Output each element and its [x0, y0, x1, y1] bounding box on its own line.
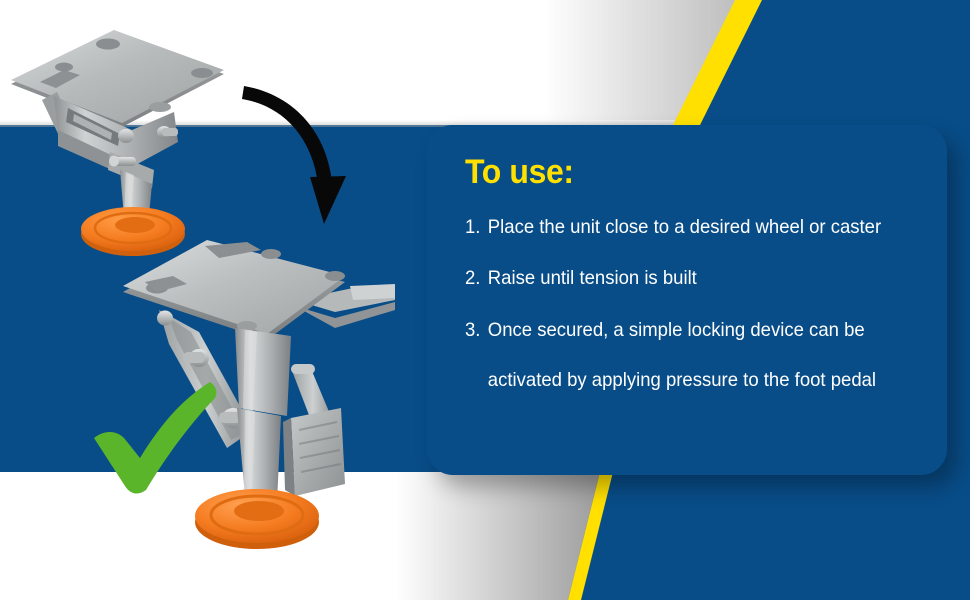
plate-hole — [325, 271, 345, 281]
instruction-card: To use: 1. Place the unit close to a des… — [427, 125, 947, 475]
step-item-3: 3. Once secured, a simple locking device… — [465, 318, 898, 393]
pivot-bolt — [118, 129, 134, 143]
bolt-shaft — [183, 352, 205, 363]
plate-hole — [55, 63, 73, 72]
bolt-shaft — [291, 364, 315, 374]
leg-tube-lower — [237, 408, 281, 502]
plate-hole — [96, 39, 120, 50]
step-number: 2. — [465, 266, 488, 290]
step-text-line1: Once secured, a simple locking device ca… — [488, 319, 865, 341]
bolt-shaft — [162, 128, 178, 136]
foot-pedal — [291, 408, 345, 496]
card-title: To use: — [465, 155, 894, 189]
step-text: Place the unit close to a desired wheel … — [488, 215, 898, 239]
step-text: Once secured, a simple locking device ca… — [488, 318, 898, 393]
pivot-bolt — [157, 311, 173, 326]
floor-lock-retracted-photo — [2, 12, 232, 257]
release-lever-tab — [350, 284, 395, 300]
arrow-shaft — [242, 86, 332, 184]
plate-hole — [191, 68, 213, 78]
rubber-pad-center — [115, 217, 155, 233]
curved-down-arrow-icon — [222, 72, 372, 232]
plate-hole — [149, 102, 171, 112]
step-text-line2: activated by applying pressure to the fo… — [488, 368, 898, 392]
infographic-canvas: To use: 1. Place the unit close to a des… — [0, 0, 970, 600]
steps-list: 1. Place the unit close to a desired whe… — [465, 215, 921, 393]
check-path — [94, 382, 216, 493]
arrow-head — [310, 176, 346, 224]
step-number: 1. — [465, 215, 488, 239]
rubber-pad-center — [234, 501, 284, 521]
step-item-1: 1. Place the unit close to a desired whe… — [465, 215, 898, 239]
step-text: Raise until tension is built — [488, 266, 898, 290]
step-item-2: 2. Raise until tension is built — [465, 266, 898, 290]
side-bolt-head — [109, 156, 119, 167]
plate-hole — [261, 249, 281, 259]
green-check-icon — [88, 372, 223, 497]
step-number: 3. — [465, 318, 488, 393]
